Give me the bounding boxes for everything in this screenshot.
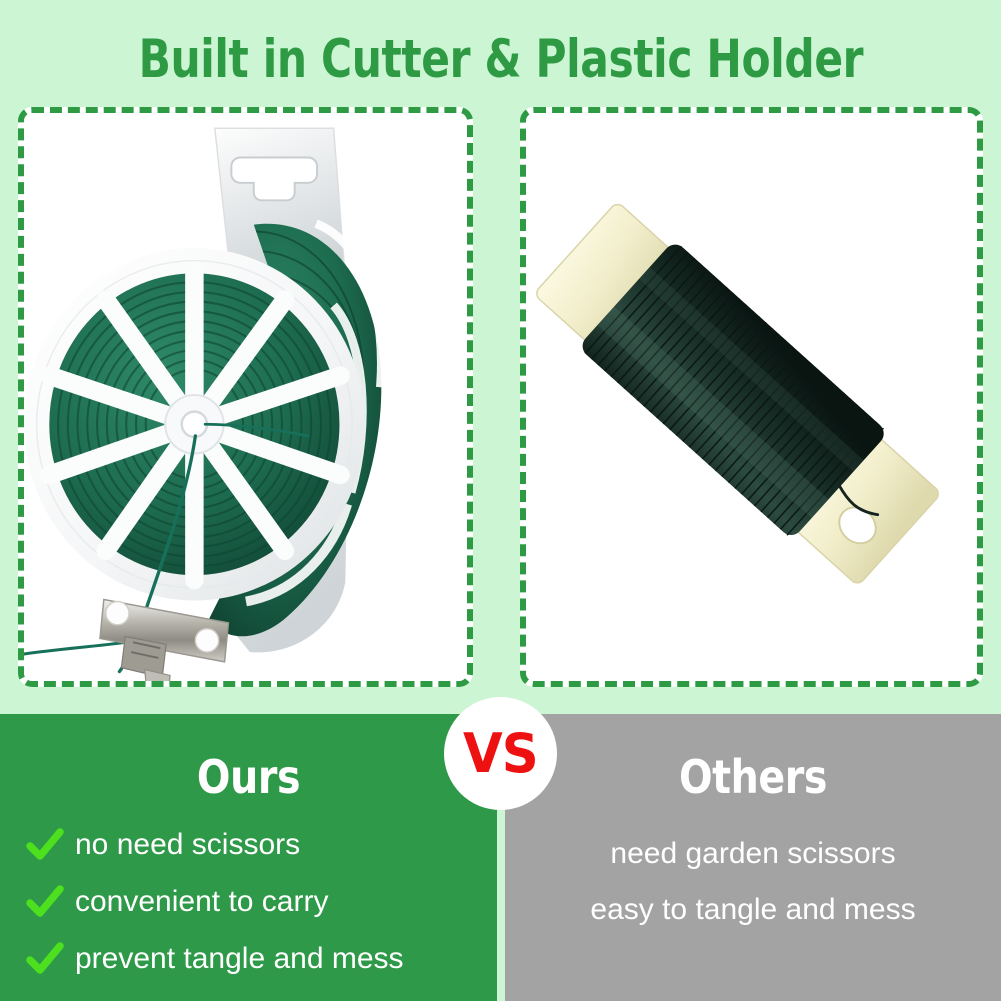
others-content: Others need garden scissors easy to tang…	[505, 714, 1001, 1001]
others-heading: Others	[540, 751, 967, 803]
list-item: need garden scissors	[505, 826, 1001, 882]
comparison-panel-ours: Ours no need scissors convenient to carr…	[0, 714, 497, 1001]
paddle-assembly	[527, 194, 948, 593]
cutter-blade	[121, 637, 166, 678]
list-item: convenient to carry	[26, 877, 486, 927]
page-title: Built in Cutter & Plastic Holder	[0, 28, 1001, 92]
metal-cutter	[100, 600, 229, 681]
list-item: prevent tangle and mess	[26, 934, 486, 984]
list-item: easy to tangle and mess	[505, 882, 1001, 938]
list-item: no need scissors	[26, 820, 486, 870]
vs-badge-label: VS	[463, 727, 538, 781]
photo-frame-others	[520, 107, 983, 687]
list-item-label: no need scissors	[75, 828, 300, 862]
check-icon	[26, 883, 64, 921]
others-drawback-list: need garden scissors easy to tangle and …	[505, 826, 1001, 938]
cutter-rivet-right	[195, 629, 218, 652]
reel-face	[37, 261, 352, 588]
product-image-ours-spool	[24, 113, 467, 681]
check-icon	[26, 826, 64, 864]
photo-stage-ours	[24, 113, 467, 681]
cutter-rivet-left	[106, 601, 129, 624]
product-image-others-paddle	[526, 113, 977, 681]
list-item-label: convenient to carry	[75, 885, 328, 919]
photo-stage-others	[526, 113, 977, 681]
photo-frame-ours	[18, 107, 473, 687]
comparison-panel-others: Others need garden scissors easy to tang…	[505, 714, 1001, 1001]
vs-badge: VS	[444, 697, 557, 810]
page-title-text: Built in Cutter & Plastic Holder	[138, 30, 863, 90]
list-item-label: prevent tangle and mess	[75, 942, 404, 976]
ours-content: Ours no need scissors convenient to carr…	[0, 714, 497, 1001]
ours-heading: Ours	[35, 751, 462, 803]
ours-benefit-list: no need scissors convenient to carry pre…	[26, 820, 486, 991]
product-comparison-infographic: Built in Cutter & Plastic Holder	[0, 0, 1001, 1001]
check-icon	[26, 940, 64, 978]
